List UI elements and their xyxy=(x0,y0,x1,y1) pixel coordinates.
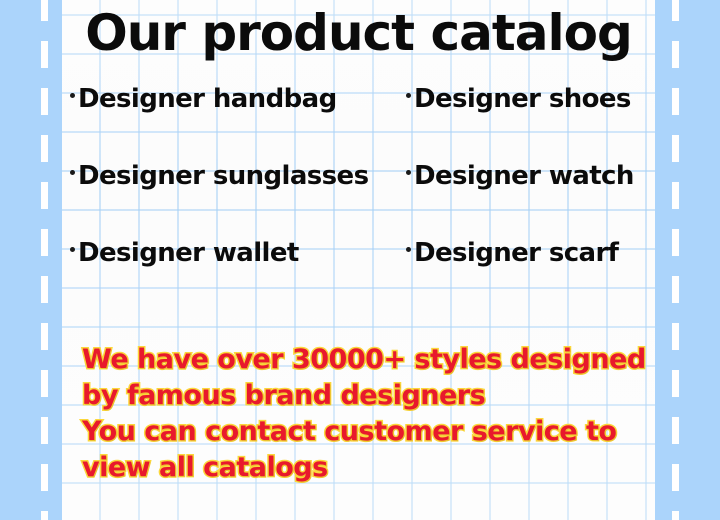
dot-bullet-icon xyxy=(406,170,411,175)
list-item: Designer handbag xyxy=(70,86,406,112)
page-title: Our product catalog xyxy=(62,6,655,61)
dashed-line-icon xyxy=(672,0,679,520)
list-item: Designer shoes xyxy=(406,86,655,112)
list-item-label: Designer sunglasses xyxy=(78,163,368,189)
list-item-label: Designer wallet xyxy=(78,240,299,266)
promo-line: You can contact customer service to xyxy=(82,414,652,450)
right-blue-band xyxy=(655,0,720,520)
catalog-item-list: Designer handbag Designer shoes Designer… xyxy=(70,86,655,317)
list-item: Designer watch xyxy=(406,163,655,189)
promo-line: view all catalogs xyxy=(82,450,652,486)
dot-bullet-icon xyxy=(406,247,411,252)
list-item-label: Designer watch xyxy=(414,163,634,189)
list-item-label: Designer shoes xyxy=(414,86,631,112)
dot-bullet-icon xyxy=(70,93,75,98)
dashed-line-icon xyxy=(41,0,48,520)
list-item-label: Designer handbag xyxy=(78,86,337,112)
dot-bullet-icon xyxy=(70,170,75,175)
left-blue-band xyxy=(0,0,62,520)
list-item: Designer scarf xyxy=(406,240,655,266)
dot-bullet-icon xyxy=(70,247,75,252)
promo-line: by famous brand designers xyxy=(82,378,652,414)
product-catalog-poster: Our product catalog Designer handbag Des… xyxy=(0,0,720,520)
promo-line: We have over 30000+ styles designed xyxy=(82,342,652,378)
poster-content: Our product catalog Designer handbag Des… xyxy=(62,0,655,520)
list-item-label: Designer scarf xyxy=(414,240,618,266)
list-item: Designer wallet xyxy=(70,240,406,266)
dot-bullet-icon xyxy=(406,93,411,98)
promo-message: We have over 30000+ styles designed by f… xyxy=(82,342,652,486)
list-item: Designer sunglasses xyxy=(70,163,406,189)
